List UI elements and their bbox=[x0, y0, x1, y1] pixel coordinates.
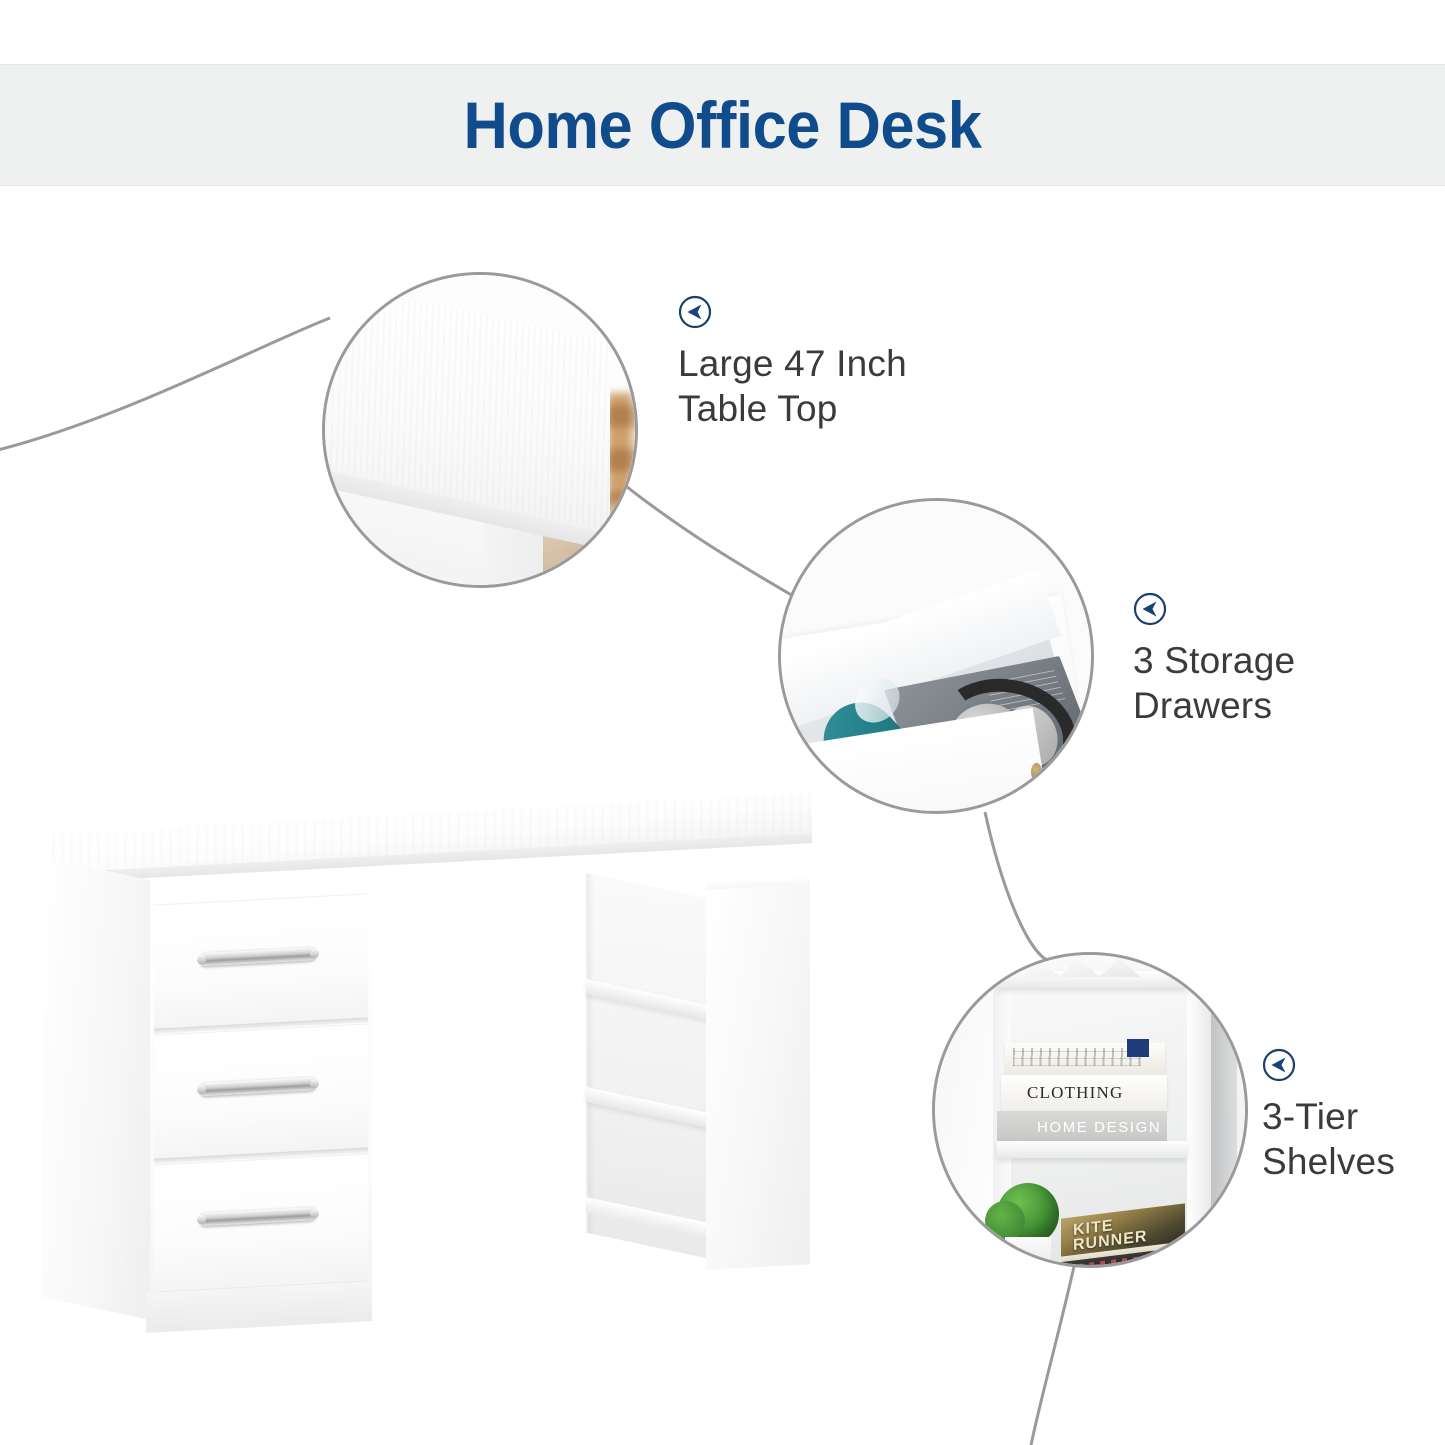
desk-drawer-pedestal bbox=[42, 835, 372, 1305]
shelf-book-home-design-title: HOME DESIGN bbox=[1037, 1119, 1161, 1136]
cabinet-screw-bottom bbox=[1035, 793, 1046, 811]
desk-drawer-2[interactable] bbox=[154, 1023, 368, 1161]
callout-drawers-label: 3 Storage Drawers bbox=[1133, 638, 1295, 728]
detail-photo-drawer: ANTIQUE bbox=[778, 498, 1094, 814]
desk-shelf-inner-shadow bbox=[586, 873, 594, 1235]
connector-circle2-to-circle3 bbox=[985, 812, 1053, 962]
potted-plant-pot bbox=[1005, 1237, 1051, 1265]
connector-left-to-circle1 bbox=[0, 318, 330, 452]
arrow-left-circle-icon bbox=[678, 295, 712, 329]
callout-drawers: 3 Storage Drawers bbox=[1133, 592, 1295, 728]
detail-photo-shelves: CLOTHING HOME DESIGN KITE RUNNER bbox=[932, 952, 1248, 1268]
page-title: Home Office Desk bbox=[464, 92, 982, 158]
tabletop-photo-inner bbox=[325, 275, 635, 585]
detail-photo-tabletop bbox=[322, 272, 638, 588]
header-band: Home Office Desk bbox=[0, 64, 1445, 186]
desk-drawer-3-handle[interactable] bbox=[200, 1207, 316, 1226]
desk-drawer-3[interactable] bbox=[154, 1153, 368, 1291]
infographic-canvas: Home Office Desk bbox=[0, 0, 1445, 1445]
shelf-right-panel bbox=[1187, 995, 1211, 1265]
arrow-left-circle-icon bbox=[1262, 1048, 1296, 1082]
product-image-desk bbox=[30, 775, 840, 1335]
shelf-book-clothing-title: CLOTHING bbox=[1027, 1083, 1123, 1103]
desk-drawer-1[interactable] bbox=[154, 893, 368, 1031]
desk-shelf-right-panel bbox=[706, 884, 810, 1269]
callout-shelves: 3-Tier Shelves bbox=[1262, 1048, 1395, 1184]
cabinet-screw-top bbox=[1031, 763, 1042, 781]
drawer-photo-inner: ANTIQUE bbox=[781, 501, 1091, 811]
shelf-right-shadow bbox=[1211, 1011, 1237, 1265]
callout-shelves-label: 3-Tier Shelves bbox=[1262, 1094, 1395, 1184]
pedestal-side-panel bbox=[42, 857, 162, 1323]
desk-shelf-unit bbox=[578, 851, 848, 1271]
shelf-bookmark bbox=[1127, 1039, 1149, 1057]
shelf-book-home-design: HOME DESIGN bbox=[997, 1111, 1167, 1143]
shelves-photo-inner: CLOTHING HOME DESIGN KITE RUNNER bbox=[935, 955, 1245, 1265]
callout-tabletop-label: Large 47 Inch Table Top bbox=[678, 341, 907, 431]
callout-tabletop: Large 47 Inch Table Top bbox=[678, 295, 907, 431]
desk-drawer-1-handle[interactable] bbox=[200, 947, 316, 966]
desk-drawer-2-handle[interactable] bbox=[200, 1077, 316, 1096]
connector-circle3-to-bottom bbox=[1030, 1262, 1075, 1445]
potted-plant-foliage bbox=[997, 1183, 1059, 1245]
shelf-book-clothing: CLOTHING bbox=[1001, 1075, 1167, 1111]
shelf-board-middle bbox=[997, 1141, 1187, 1158]
arrow-left-circle-icon bbox=[1133, 592, 1167, 626]
connector-circle1-to-circle2 bbox=[612, 475, 800, 600]
